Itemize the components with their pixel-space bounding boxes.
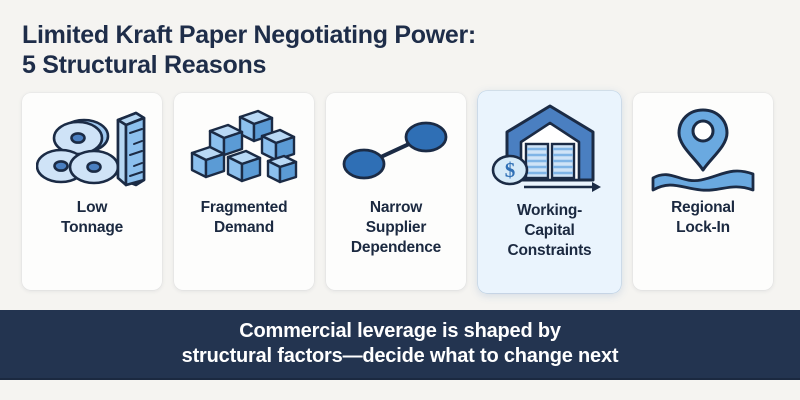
card-label-line-2: Tonnage [61, 218, 123, 238]
infographic-canvas: Limited Kraft Paper Negotiating Power: 5… [0, 0, 800, 400]
icon-area: $ [478, 91, 621, 201]
card-label-line-2: Supplier [351, 218, 441, 238]
card-label-line-1: Working- [508, 201, 592, 221]
two-node-link-icon [340, 108, 452, 188]
card-label: Fragmented Demand [195, 198, 294, 238]
map-pin-over-waves-icon [647, 102, 759, 194]
footer-banner: Commercial leverage is shaped by structu… [0, 310, 800, 378]
icon-area [22, 93, 162, 198]
card-label-line-3: Dependence [351, 238, 441, 258]
card-label-line-1: Fragmented [201, 198, 288, 218]
footer-line-2: structural factors—decide what to change… [182, 344, 619, 369]
card-label-line-1: Regional [671, 198, 735, 218]
paper-rolls-with-ruler-icon [36, 102, 148, 194]
card-label: Regional Lock-In [665, 198, 741, 238]
card-working-capital-constraints[interactable]: $ Working- Capital Constraints [478, 91, 621, 293]
footer-line-1: Commercial leverage is shaped by [239, 319, 561, 344]
title-line-2: 5 Structural Reasons [22, 50, 722, 80]
card-label-line-2: Lock-In [671, 218, 735, 238]
dollar-sign-glyph: $ [504, 158, 515, 182]
card-low-tonnage[interactable]: Low Tonnage [22, 93, 162, 290]
scattered-boxes-icon [188, 103, 300, 193]
warehouse-dollar-arrow-icon: $ [491, 98, 609, 198]
card-label-line-1: Low [61, 198, 123, 218]
card-label-line-2: Demand [201, 218, 288, 238]
card-label: Low Tonnage [55, 198, 129, 238]
card-fragmented-demand[interactable]: Fragmented Demand [174, 93, 314, 290]
card-label: Narrow Supplier Dependence [345, 198, 447, 258]
icon-area [326, 93, 466, 198]
page-title: Limited Kraft Paper Negotiating Power: 5… [22, 20, 722, 80]
title-line-1: Limited Kraft Paper Negotiating Power: [22, 20, 722, 50]
card-label-line-2: Capital [508, 221, 592, 241]
card-narrow-supplier-dependence[interactable]: Narrow Supplier Dependence [326, 93, 466, 290]
card-regional-lock-in[interactable]: Regional Lock-In [633, 93, 773, 290]
card-label: Working- Capital Constraints [502, 201, 598, 261]
icon-area [174, 93, 314, 198]
bottom-strip [0, 380, 800, 400]
card-label-line-3: Constraints [508, 241, 592, 261]
reason-cards-row: Low Tonnage [22, 93, 778, 293]
card-label-line-1: Narrow [351, 198, 441, 218]
icon-area [633, 93, 773, 198]
